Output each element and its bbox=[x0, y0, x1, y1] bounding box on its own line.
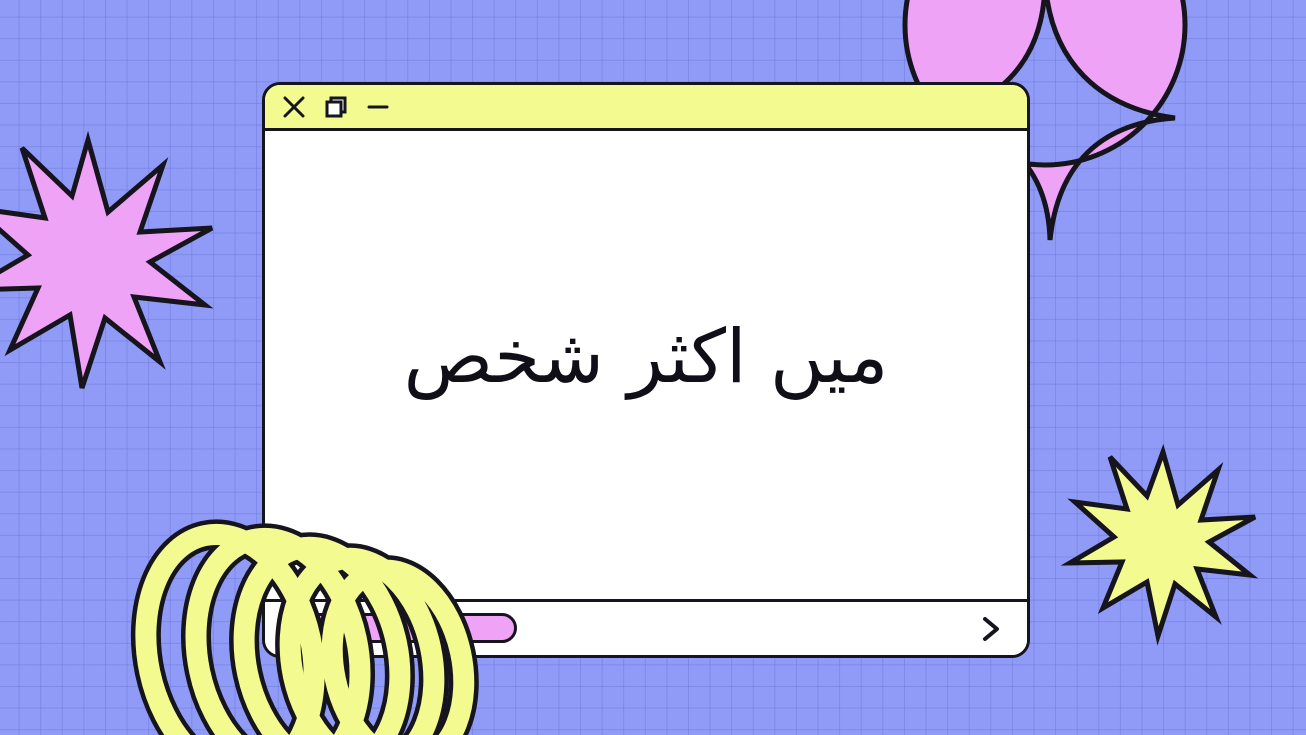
progress-fill bbox=[297, 613, 517, 643]
window-content: میں اکثر شخص bbox=[265, 131, 1027, 599]
app-window: میں اکثر شخص bbox=[262, 82, 1030, 658]
maximize-icon[interactable] bbox=[323, 94, 349, 120]
window-footer bbox=[265, 599, 1027, 655]
next-chevron-icon[interactable] bbox=[973, 612, 1007, 646]
slide-canvas: میں اکثر شخص bbox=[0, 0, 1306, 735]
minimize-icon[interactable] bbox=[365, 94, 391, 120]
close-icon[interactable] bbox=[281, 94, 307, 120]
headline-text: میں اکثر شخص bbox=[356, 311, 937, 404]
progress-track[interactable] bbox=[297, 613, 983, 643]
window-titlebar bbox=[265, 85, 1027, 131]
